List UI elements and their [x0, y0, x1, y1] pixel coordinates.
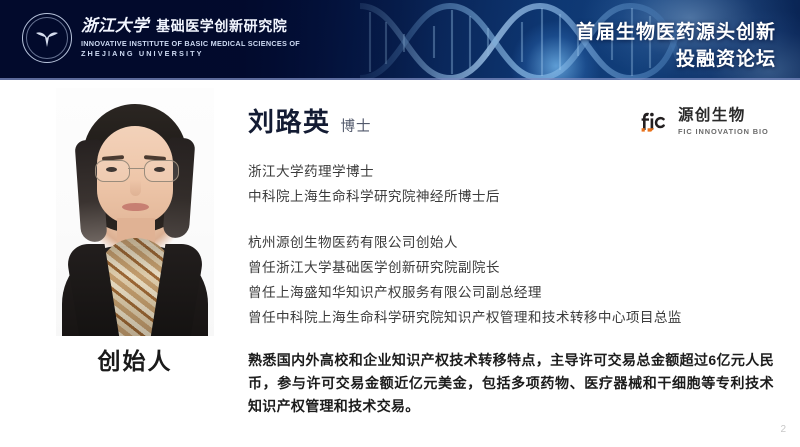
company-logo: 源创生物 FIC INNOVATION BIO — [640, 108, 769, 135]
portrait-nose — [130, 180, 141, 196]
university-name-cn: 浙江大学 — [81, 18, 149, 35]
forum-title-line1: 首届生物医药源头创新 — [576, 20, 776, 47]
university-logo: 浙江大学 基础医学创新研究院 INNOVATIVE INSTITUTE OF B… — [22, 13, 300, 63]
portrait-mouth — [122, 203, 149, 211]
institute-name-en-line1: INNOVATIVE INSTITUTE OF BASIC MEDICAL SC… — [81, 40, 300, 47]
forum-title-line2: 投融资论坛 — [576, 47, 776, 74]
university-text: 浙江大学 基础医学创新研究院 INNOVATIVE INSTITUTE OF B… — [81, 18, 300, 57]
company-text: 源创生物 FIC INNOVATION BIO — [678, 108, 769, 135]
speaker-portrait — [56, 88, 214, 336]
company-name-cn: 源创生物 — [678, 108, 769, 124]
speaker-name: 刘路英 — [248, 102, 331, 139]
experience-list: 杭州源创生物医药有限公司创始人 曾任浙江大学基础医学创新研究院副院长 曾任上海盛… — [248, 231, 788, 330]
portrait-photo — [56, 88, 214, 336]
forum-title: 首届生物医药源头创新 投融资论坛 — [576, 20, 776, 74]
glasses-lens-left — [95, 160, 130, 182]
list-item: 曾任上海盛知华知识产权服务有限公司副总经理 — [248, 281, 788, 306]
speaker-summary: 熟悉国内外高校和企业知识产权技术转移特点，主导许可交易总金额超过6亿元人民币，参… — [248, 349, 774, 417]
education-list: 浙江大学药理学博士 中科院上海生命科学研究院神经所博士后 — [248, 160, 788, 209]
seal-bird-glyph — [34, 29, 60, 49]
glasses-bridge — [128, 168, 144, 169]
glasses-lens-right — [144, 160, 179, 182]
list-item: 中科院上海生命科学研究院神经所博士后 — [248, 185, 788, 210]
list-item: 曾任中科院上海生命科学研究院知识产权管理和技术转移中心项目总监 — [248, 306, 788, 331]
university-seal-icon — [22, 13, 72, 63]
list-item: 杭州源创生物医药有限公司创始人 — [248, 231, 788, 256]
list-item: 曾任浙江大学基础医学创新研究院副院长 — [248, 256, 788, 281]
speaker-role: 创始人 — [56, 342, 214, 376]
institute-name-cn: 基础医学创新研究院 — [156, 19, 287, 33]
list-item: 浙江大学药理学博士 — [248, 160, 788, 185]
header-banner: 浙江大学 基础医学创新研究院 INNOVATIVE INSTITUTE OF B… — [0, 0, 800, 80]
page-number: 2 — [780, 424, 786, 435]
speaker-degree: 博士 — [341, 115, 372, 136]
university-name-en: ZHEJIANG UNIVERSITY — [81, 50, 300, 57]
company-name-en: FIC INNOVATION BIO — [678, 128, 769, 135]
portrait-glasses — [94, 160, 178, 182]
speaker-info: 刘路英 博士 浙江大学药理学博士 中科院上海生命科学研究院神经所博士后 杭州源创… — [248, 102, 788, 418]
fic-logo-icon — [640, 110, 670, 132]
speaker-card: 创始人 刘路英 博士 浙江大学药理学博士 中科院上海生命科学研究院神经所博士后 … — [0, 80, 800, 447]
